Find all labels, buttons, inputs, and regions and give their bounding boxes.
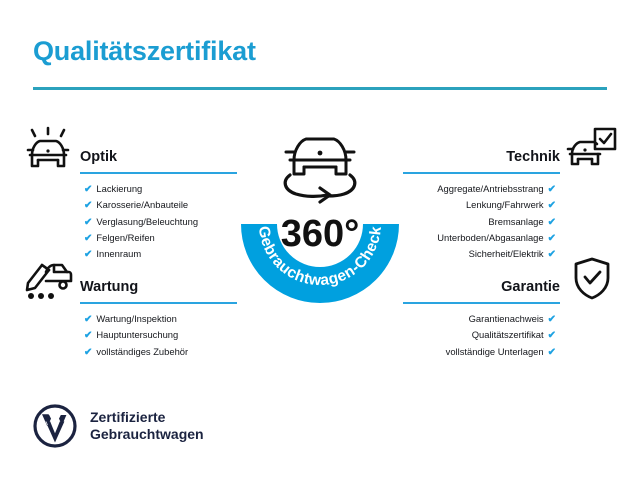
check-icon: ✔ — [84, 347, 92, 358]
list-item: Garantienachweis✔ — [418, 311, 556, 327]
list-item: Aggregate/Antriebsstrang✔ — [418, 181, 556, 197]
list-item-label: Unterboden/Abgasanlage — [437, 232, 543, 243]
service-book-pen-icon — [22, 256, 74, 302]
title-divider — [33, 87, 607, 90]
check-icon: ✔ — [548, 314, 556, 325]
check-icon: ✔ — [548, 233, 556, 244]
section-header: Optik — [22, 126, 222, 174]
section-divider — [80, 302, 237, 304]
car-checkbox-icon — [566, 126, 618, 172]
footer-line-2: Gebrauchtwagen — [90, 426, 204, 443]
section-title: Optik — [80, 149, 117, 165]
check-icon: ✔ — [548, 217, 556, 228]
list-item: vollständige Unterlagen✔ — [418, 344, 556, 360]
list-item: Unterboden/Abgasanlage✔ — [418, 230, 556, 246]
list-item-label: Lenkung/Fahrwerk — [466, 199, 544, 210]
list-item-label: Qualitätszertifikat — [472, 329, 544, 340]
list-item-label: Bremsanlage — [488, 216, 543, 227]
list-item: ✔Hauptuntersuchung — [84, 327, 222, 343]
checklist: Garantienachweis✔ Qualitätszertifikat✔ v… — [418, 304, 618, 360]
section-technik: Technik Aggregate/Antriebsstrang✔ Lenkun… — [418, 126, 618, 262]
car-front-rotation-icon — [285, 139, 355, 202]
section-divider — [403, 172, 560, 174]
list-item: ✔Karosserie/Anbauteile — [84, 197, 222, 213]
footer-line-1: Zertifizierte — [90, 409, 204, 426]
badge-center-label: 360° — [281, 213, 360, 255]
check-icon: ✔ — [548, 200, 556, 211]
section-divider — [403, 302, 560, 304]
checklist: ✔Lackierung ✔Karosserie/Anbauteile ✔Verg… — [22, 174, 222, 262]
list-item: Qualitätszertifikat✔ — [418, 327, 556, 343]
list-item-label: Verglasung/Beleuchtung — [96, 216, 198, 227]
list-item-label: vollständige Unterlagen — [446, 346, 544, 357]
check-icon: ✔ — [548, 330, 556, 341]
list-item-label: Garantienachweis — [469, 313, 544, 324]
footer-text: Zertifizierte Gebrauchtwagen — [90, 409, 204, 443]
section-wartung: Wartung ✔Wartung/Inspektion ✔Hauptunters… — [22, 256, 222, 360]
list-item: Bremsanlage✔ — [418, 214, 556, 230]
list-item-label: Felgen/Reifen — [96, 232, 154, 243]
list-item-label: Hauptuntersuchung — [96, 329, 178, 340]
list-item: ✔Verglasung/Beleuchtung — [84, 214, 222, 230]
list-item: ✔Felgen/Reifen — [84, 230, 222, 246]
checklist: ✔Wartung/Inspektion ✔Hauptuntersuchung ✔… — [22, 304, 222, 360]
shield-check-icon — [566, 256, 618, 302]
list-item-label: Lackierung — [96, 183, 142, 194]
check-icon: ✔ — [84, 330, 92, 341]
section-header: Technik — [418, 126, 618, 174]
list-item: ✔vollständiges Zubehör — [84, 344, 222, 360]
volkswagen-logo — [33, 404, 77, 448]
section-header: Garantie — [418, 256, 618, 304]
page-title: Qualitätszertifikat — [33, 36, 256, 67]
check-icon: ✔ — [84, 200, 92, 211]
section-optik: Optik ✔Lackierung ✔Karosserie/Anbauteile… — [22, 126, 222, 262]
list-item-label: Wartung/Inspektion — [96, 313, 176, 324]
check-icon: ✔ — [84, 314, 92, 325]
checklist: Aggregate/Antriebsstrang✔ Lenkung/Fahrwe… — [418, 174, 618, 262]
check-icon: ✔ — [548, 347, 556, 358]
section-header: Wartung — [22, 256, 222, 304]
badge-360-gebrauchtwagen-check: 360° Gebrauchtwagen-Check — [232, 118, 408, 314]
list-item-label: Karosserie/Anbauteile — [96, 199, 188, 210]
section-divider — [80, 172, 237, 174]
list-item-label: Aggregate/Antriebsstrang — [437, 183, 543, 194]
car-shine-icon — [22, 126, 74, 172]
check-icon: ✔ — [84, 217, 92, 228]
certificate-page: Qualitätszertifikat Optik — [0, 0, 640, 480]
section-garantie: Garantie Garantienachweis✔ Qualitätszert… — [418, 256, 618, 360]
check-icon: ✔ — [84, 184, 92, 195]
footer-logo-block: Zertifizierte Gebrauchtwagen — [33, 404, 204, 448]
check-icon: ✔ — [84, 233, 92, 244]
list-item: Lenkung/Fahrwerk✔ — [418, 197, 556, 213]
list-item: ✔Lackierung — [84, 181, 222, 197]
section-title: Garantie — [501, 279, 560, 295]
list-item: ✔Wartung/Inspektion — [84, 311, 222, 327]
section-title: Wartung — [80, 279, 138, 295]
list-item-label: vollständiges Zubehör — [96, 346, 188, 357]
check-icon: ✔ — [548, 184, 556, 195]
section-title: Technik — [506, 149, 560, 165]
